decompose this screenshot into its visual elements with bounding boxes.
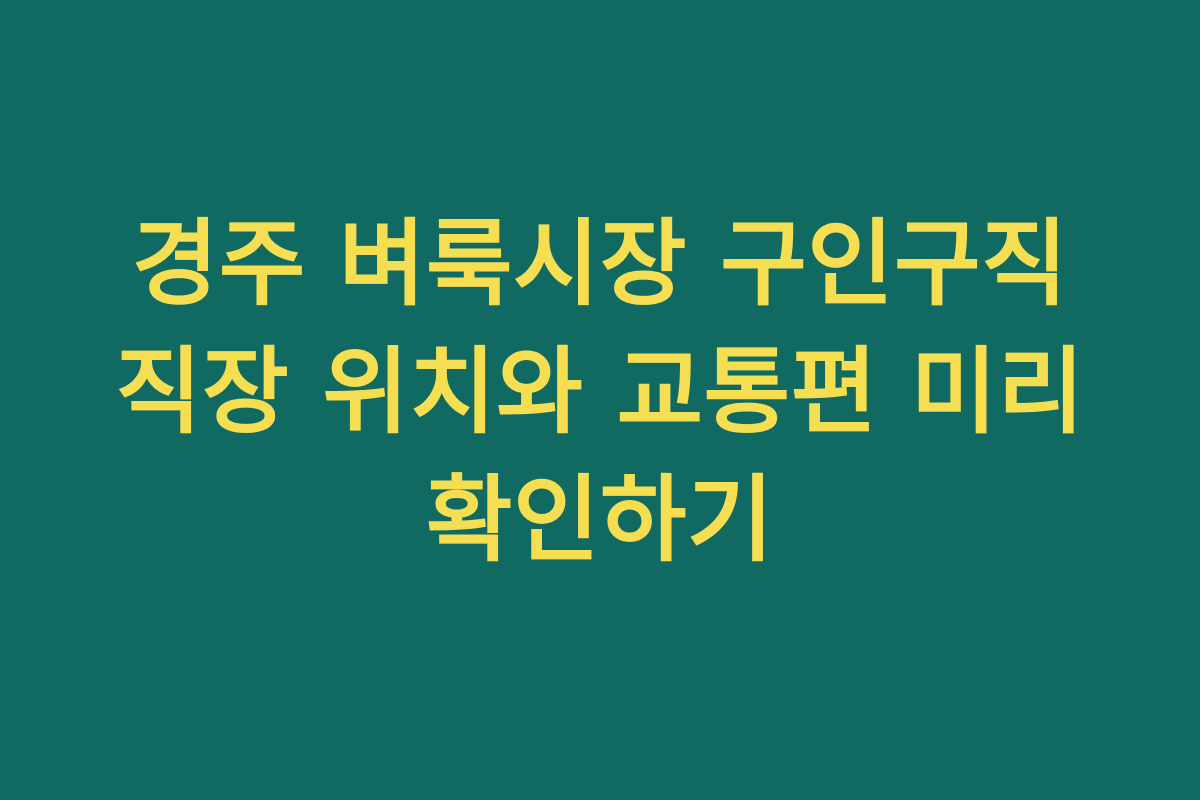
- poster-canvas: 경주 벼룩시장 구인구직 직장 위치와 교통편 미리 확인하기: [0, 0, 1200, 800]
- headline-line-3: 확인하기: [50, 457, 1150, 585]
- headline-line-2: 직장 위치와 교통편 미리: [50, 329, 1150, 457]
- headline-line-1: 경주 벼룩시장 구인구직: [50, 201, 1150, 329]
- headline-block: 경주 벼룩시장 구인구직 직장 위치와 교통편 미리 확인하기: [50, 201, 1150, 585]
